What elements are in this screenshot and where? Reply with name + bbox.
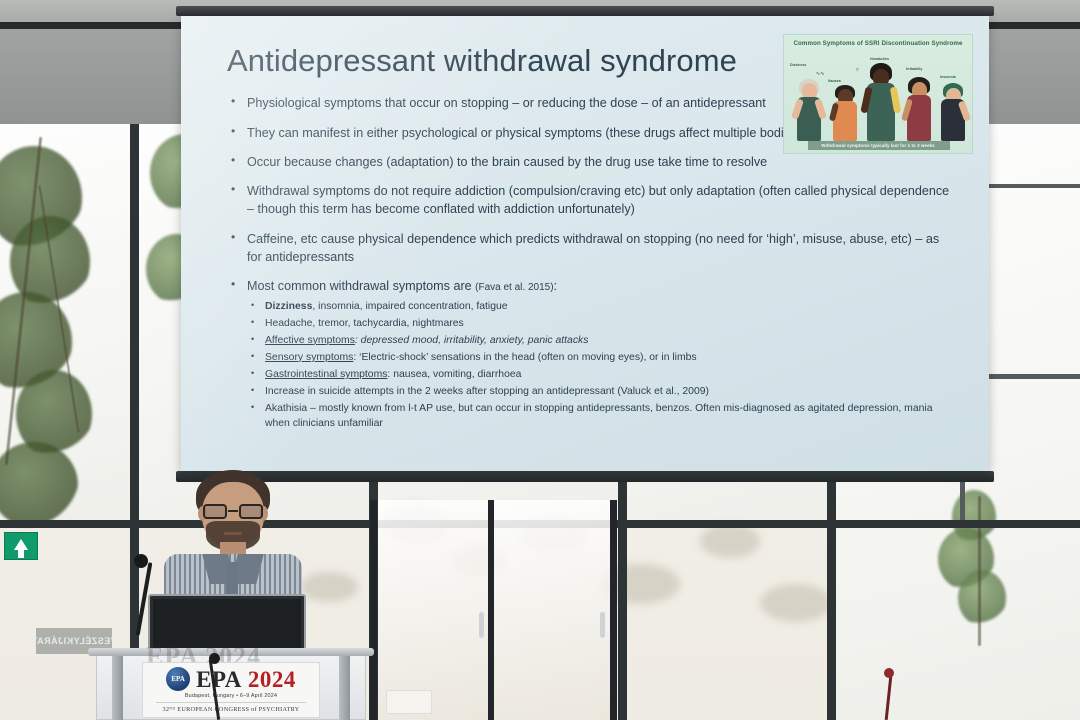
infographic-figure: [904, 77, 934, 141]
door-frame: [370, 500, 377, 720]
sub-bullet-text: Headache, tremor, tachycardia, nightmare…: [265, 318, 464, 329]
glasses-lens: [203, 504, 227, 519]
slide-citation: (Fava et al. 2015): [475, 282, 553, 293]
presentation-slide: Antidepressant withdrawal syndrome Physi…: [181, 16, 989, 471]
slide-sub-bullet: Gastrointestinal symptoms: nausea, vomit…: [247, 368, 947, 383]
sub-bullet-text: : ‘Electric-shock’ sensations in the hea…: [353, 352, 696, 363]
speaker-glasses-icon: [202, 504, 264, 519]
slide-title: Antidepressant withdrawal syndrome: [227, 42, 827, 80]
speaker-mouth: [224, 532, 242, 535]
sub-bullet-text: Increase in suicide attempts in the 2 we…: [265, 386, 709, 397]
foliage: [958, 570, 1006, 626]
epa-location-line: Budapest, Hungary • 6–9 April 2024: [185, 693, 277, 699]
infographic-caption: Withdrawal symptoms typically last for 1…: [784, 143, 972, 148]
dizziness-squiggle-icon: ∿∿: [816, 71, 824, 77]
infographic-figure: [938, 83, 968, 141]
door-handle[interactable]: [479, 612, 484, 638]
door-notice: [386, 690, 432, 714]
infographic-label: Nausea: [828, 79, 841, 83]
exit-arrow-icon: [14, 539, 28, 550]
slide-sub-bullet: Affective symptoms: depressed mood, irri…: [247, 334, 947, 349]
infographic-figures: Dizziness Nausea Headaches Irritability …: [784, 53, 972, 141]
screen-surface: Antidepressant withdrawal syndrome Physi…: [181, 16, 989, 471]
sub-bullet-emphasis: Sensory symptoms: [265, 352, 353, 363]
dizziness-squiggle-icon: ≈: [856, 67, 859, 73]
sub-bullet-text: Akathisia – mostly known from l-t AP use…: [265, 403, 932, 429]
epa-brand-row: EPA EPA 2024: [166, 667, 296, 691]
infographic-label: Irritability: [906, 67, 922, 71]
infographic-label: Dizziness: [790, 63, 806, 67]
sub-bullet-text: : depressed mood, irritability, anxiety,…: [355, 335, 589, 346]
infographic-title: Common Symptoms of SSRI Discontinuation …: [784, 40, 972, 47]
door-frame: [488, 500, 494, 720]
epa-year: 2024: [248, 668, 296, 691]
branch: [978, 496, 981, 646]
lectern-post: [112, 648, 123, 720]
sub-bullet-emphasis: Dizziness: [265, 301, 312, 312]
glass-door-panel[interactable]: [378, 500, 488, 720]
lectern-post: [339, 648, 350, 720]
sub-bullet-text: : nausea, vomiting, diarrhoea: [387, 369, 521, 380]
slide-sub-bullet: Dizziness, insomnia, impaired concentrat…: [247, 300, 947, 315]
projection-screen: Antidepressant withdrawal syndrome Physi…: [176, 6, 994, 484]
sub-bullet-text: , insomnia, impaired concentration, fati…: [312, 301, 507, 312]
slide-sub-bullet: Sensory symptoms: ‘Electric-shock’ sensa…: [247, 351, 947, 366]
slide-bullet: Occur because changes (adaptation) to th…: [227, 153, 952, 171]
door-handle[interactable]: [600, 612, 605, 638]
ssri-infographic-image: Common Symptoms of SSRI Discontinuation …: [783, 34, 973, 154]
slide-bullet-with-sublist: Most common withdrawal symptoms are (Fav…: [227, 277, 952, 431]
lectern-and-speaker: EPA 2024 EPA EPA 2024 Budapest, Hungary …: [96, 466, 366, 720]
slide-sub-bullet-list: Dizziness, insomnia, impaired concentrat…: [247, 300, 952, 432]
epa-wordmark: EPA: [196, 668, 242, 691]
sunlight-dapple: [700, 524, 760, 558]
glasses-bridge: [228, 510, 238, 512]
sub-bullet-emphasis: Gastrointestinal symptoms: [265, 369, 387, 380]
slide-bullet: Withdrawal symptoms do not require addic…: [227, 182, 952, 219]
screen-roller: [176, 6, 994, 16]
slide-bullet: Caffeine, etc cause physical dependence …: [227, 230, 952, 267]
emergency-exit-icon: [4, 532, 38, 560]
slide-bullet-lead: Most common withdrawal symptoms are: [247, 279, 472, 293]
epa-logo-icon: EPA: [166, 667, 190, 691]
slide-sub-bullet: Increase in suicide attempts in the 2 we…: [247, 385, 947, 400]
microphone-icon: [134, 554, 148, 568]
infographic-figure: [864, 63, 898, 141]
slide-bullet-colon: :: [554, 279, 558, 293]
door-frame: [610, 500, 617, 720]
slide-sub-bullet: Akathisia – mostly known from l-t AP use…: [247, 402, 947, 431]
lectern-ghost-text: EPA 2024: [146, 642, 316, 664]
sub-bullet-emphasis: Affective symptoms: [265, 335, 355, 346]
epa-congress-line: 32ᴺᴰ EUROPEAN CONGRESS of PSYCHIATRY: [156, 702, 306, 713]
glasses-lens: [239, 504, 263, 519]
infographic-figure: [794, 79, 824, 141]
epa-2024-branding-sign: EPA EPA 2024 Budapest, Hungary • 6–9 Apr…: [142, 662, 320, 718]
sunlight-dapple: [760, 584, 832, 622]
glass-door-panel[interactable]: [494, 500, 610, 720]
infographic-label: Insomnia: [940, 75, 956, 79]
audience-microphone-icon: [209, 653, 220, 664]
infographic-figure: [830, 85, 860, 141]
infographic-label: Headaches: [870, 57, 889, 61]
slide-sub-bullet: Headache, tremor, tachycardia, nightmare…: [247, 317, 947, 332]
red-microphone-icon: [884, 668, 894, 678]
